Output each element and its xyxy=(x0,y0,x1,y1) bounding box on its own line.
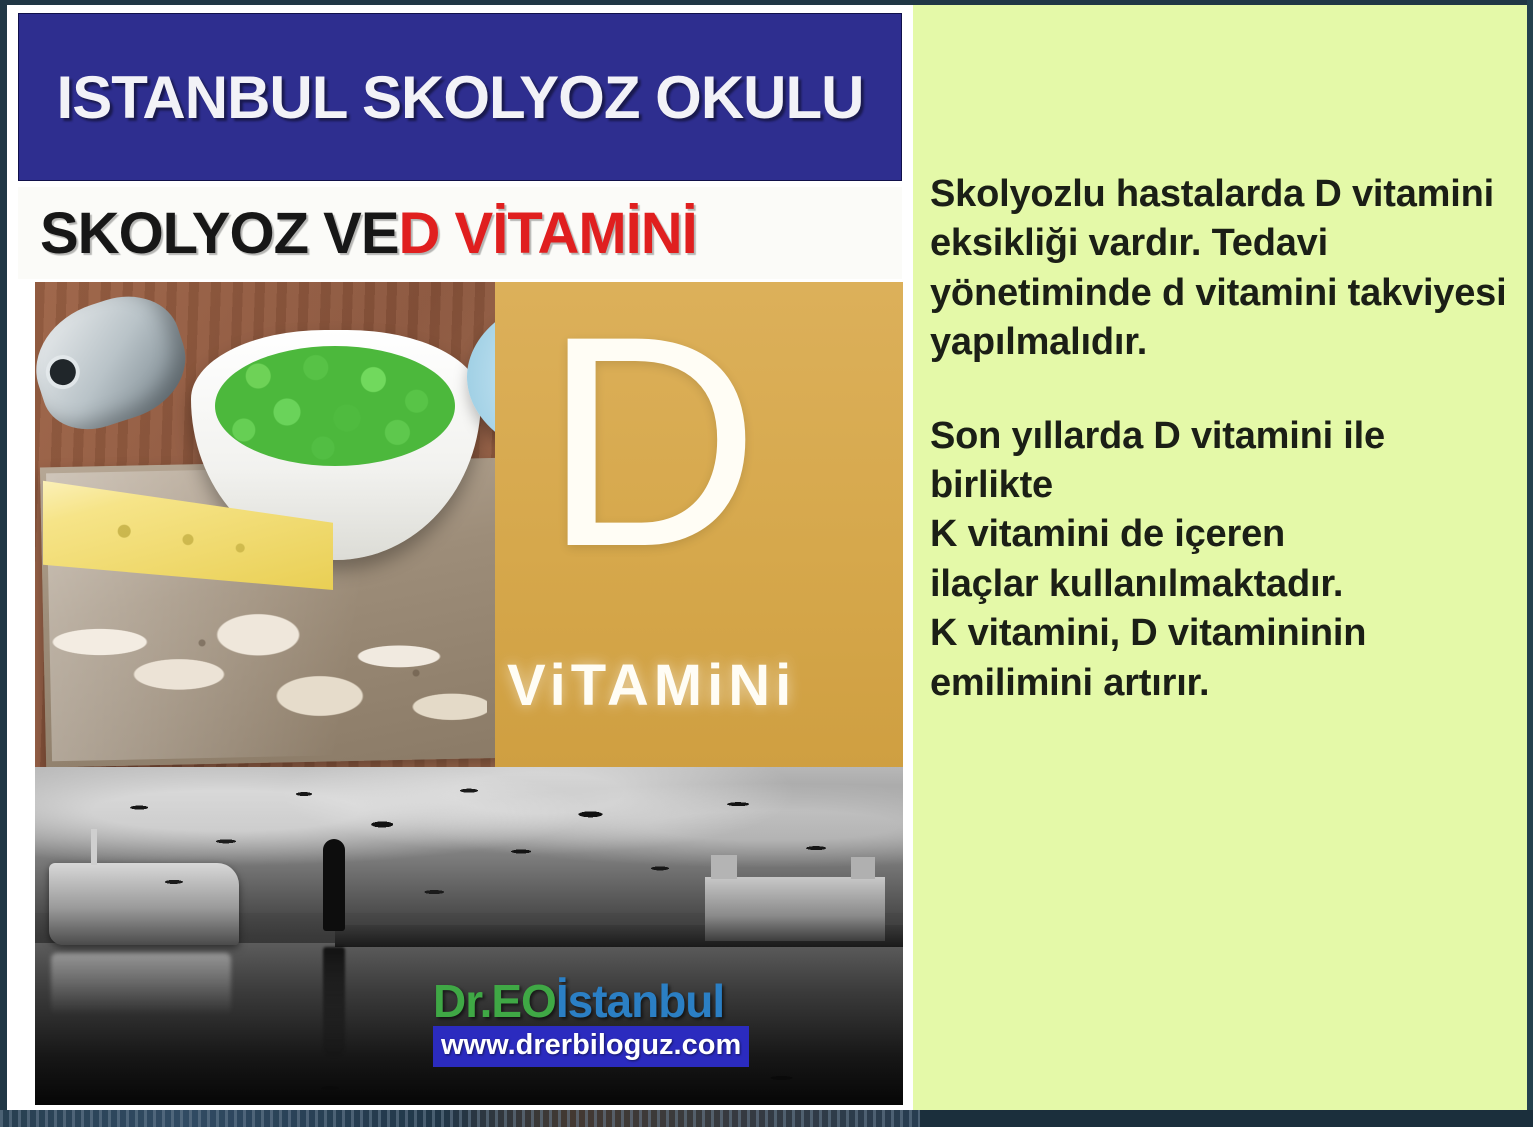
poster-image-card: ISTANBUL SKOLYOZ OKULU SKOLYOZ VE D VİTA… xyxy=(7,5,913,1110)
vitamin-d-gold-panel: D ViTAMiNi xyxy=(495,282,903,767)
paragraph-2-line-3: K vitamini de içeren xyxy=(930,513,1285,555)
vitamin-d-panel-label: ViTAMiNi xyxy=(507,652,796,719)
mushrooms xyxy=(47,570,487,750)
logo-website-url[interactable]: www.drerbiloguz.com xyxy=(433,1026,749,1067)
slide-left-border xyxy=(0,5,7,1110)
green-peas xyxy=(215,346,455,466)
watermark-logo: Dr.EOİstanbul www.drerbiloguz.com xyxy=(433,978,783,1067)
paragraph-spacer xyxy=(930,368,1510,412)
slide-top-border xyxy=(0,0,1533,5)
logo-brand-suffix: İstanbul xyxy=(556,975,724,1027)
slide-body-text: Skolyozlu hastalarda D vitamini eksikliğ… xyxy=(930,170,1510,708)
paragraph-2: Son yıllarda D vitamini ile birlikte K v… xyxy=(930,412,1510,708)
logo-brand-line: Dr.EOİstanbul xyxy=(433,978,783,1024)
poster-headline: SKOLYOZ VE D VİTAMİNİ xyxy=(18,187,902,279)
presentation-slide: ISTANBUL SKOLYOZ OKULU SKOLYOZ VE D VİTA… xyxy=(0,0,1533,1127)
paragraph-2-line-4: ilaçlar kullanılmaktadır. xyxy=(930,563,1343,605)
headline-dark-text: SKOLYOZ VE xyxy=(40,200,399,267)
paragraph-2-line-1: Son yıllarda D vitamini ile xyxy=(930,415,1385,457)
istanbul-pier-photo: Dr.EOİstanbul www.drerbiloguz.com xyxy=(35,767,903,1105)
vitamin-d-foods-photo: D ViTAMiNi xyxy=(35,282,903,767)
paragraph-2-line-2: birlikte xyxy=(930,464,1053,506)
slide-bottom-artifact-strip xyxy=(0,1110,920,1127)
paragraph-1: Skolyozlu hastalarda D vitamini eksikliğ… xyxy=(930,170,1510,368)
poster-title-banner: ISTANBUL SKOLYOZ OKULU xyxy=(18,13,902,181)
paragraph-2-line-5: K vitamini, D vitamininin xyxy=(930,612,1366,654)
logo-brand-prefix: Dr.EO xyxy=(433,975,556,1027)
slide-right-border xyxy=(1527,0,1533,1115)
paragraph-2-line-6: emilimini artırır. xyxy=(930,662,1209,704)
headline-red-text: D VİTAMİNİ xyxy=(399,200,697,267)
poster-title-text: ISTANBUL SKOLYOZ OKULU xyxy=(57,63,864,132)
vitamin-d-letter: D xyxy=(543,318,760,564)
